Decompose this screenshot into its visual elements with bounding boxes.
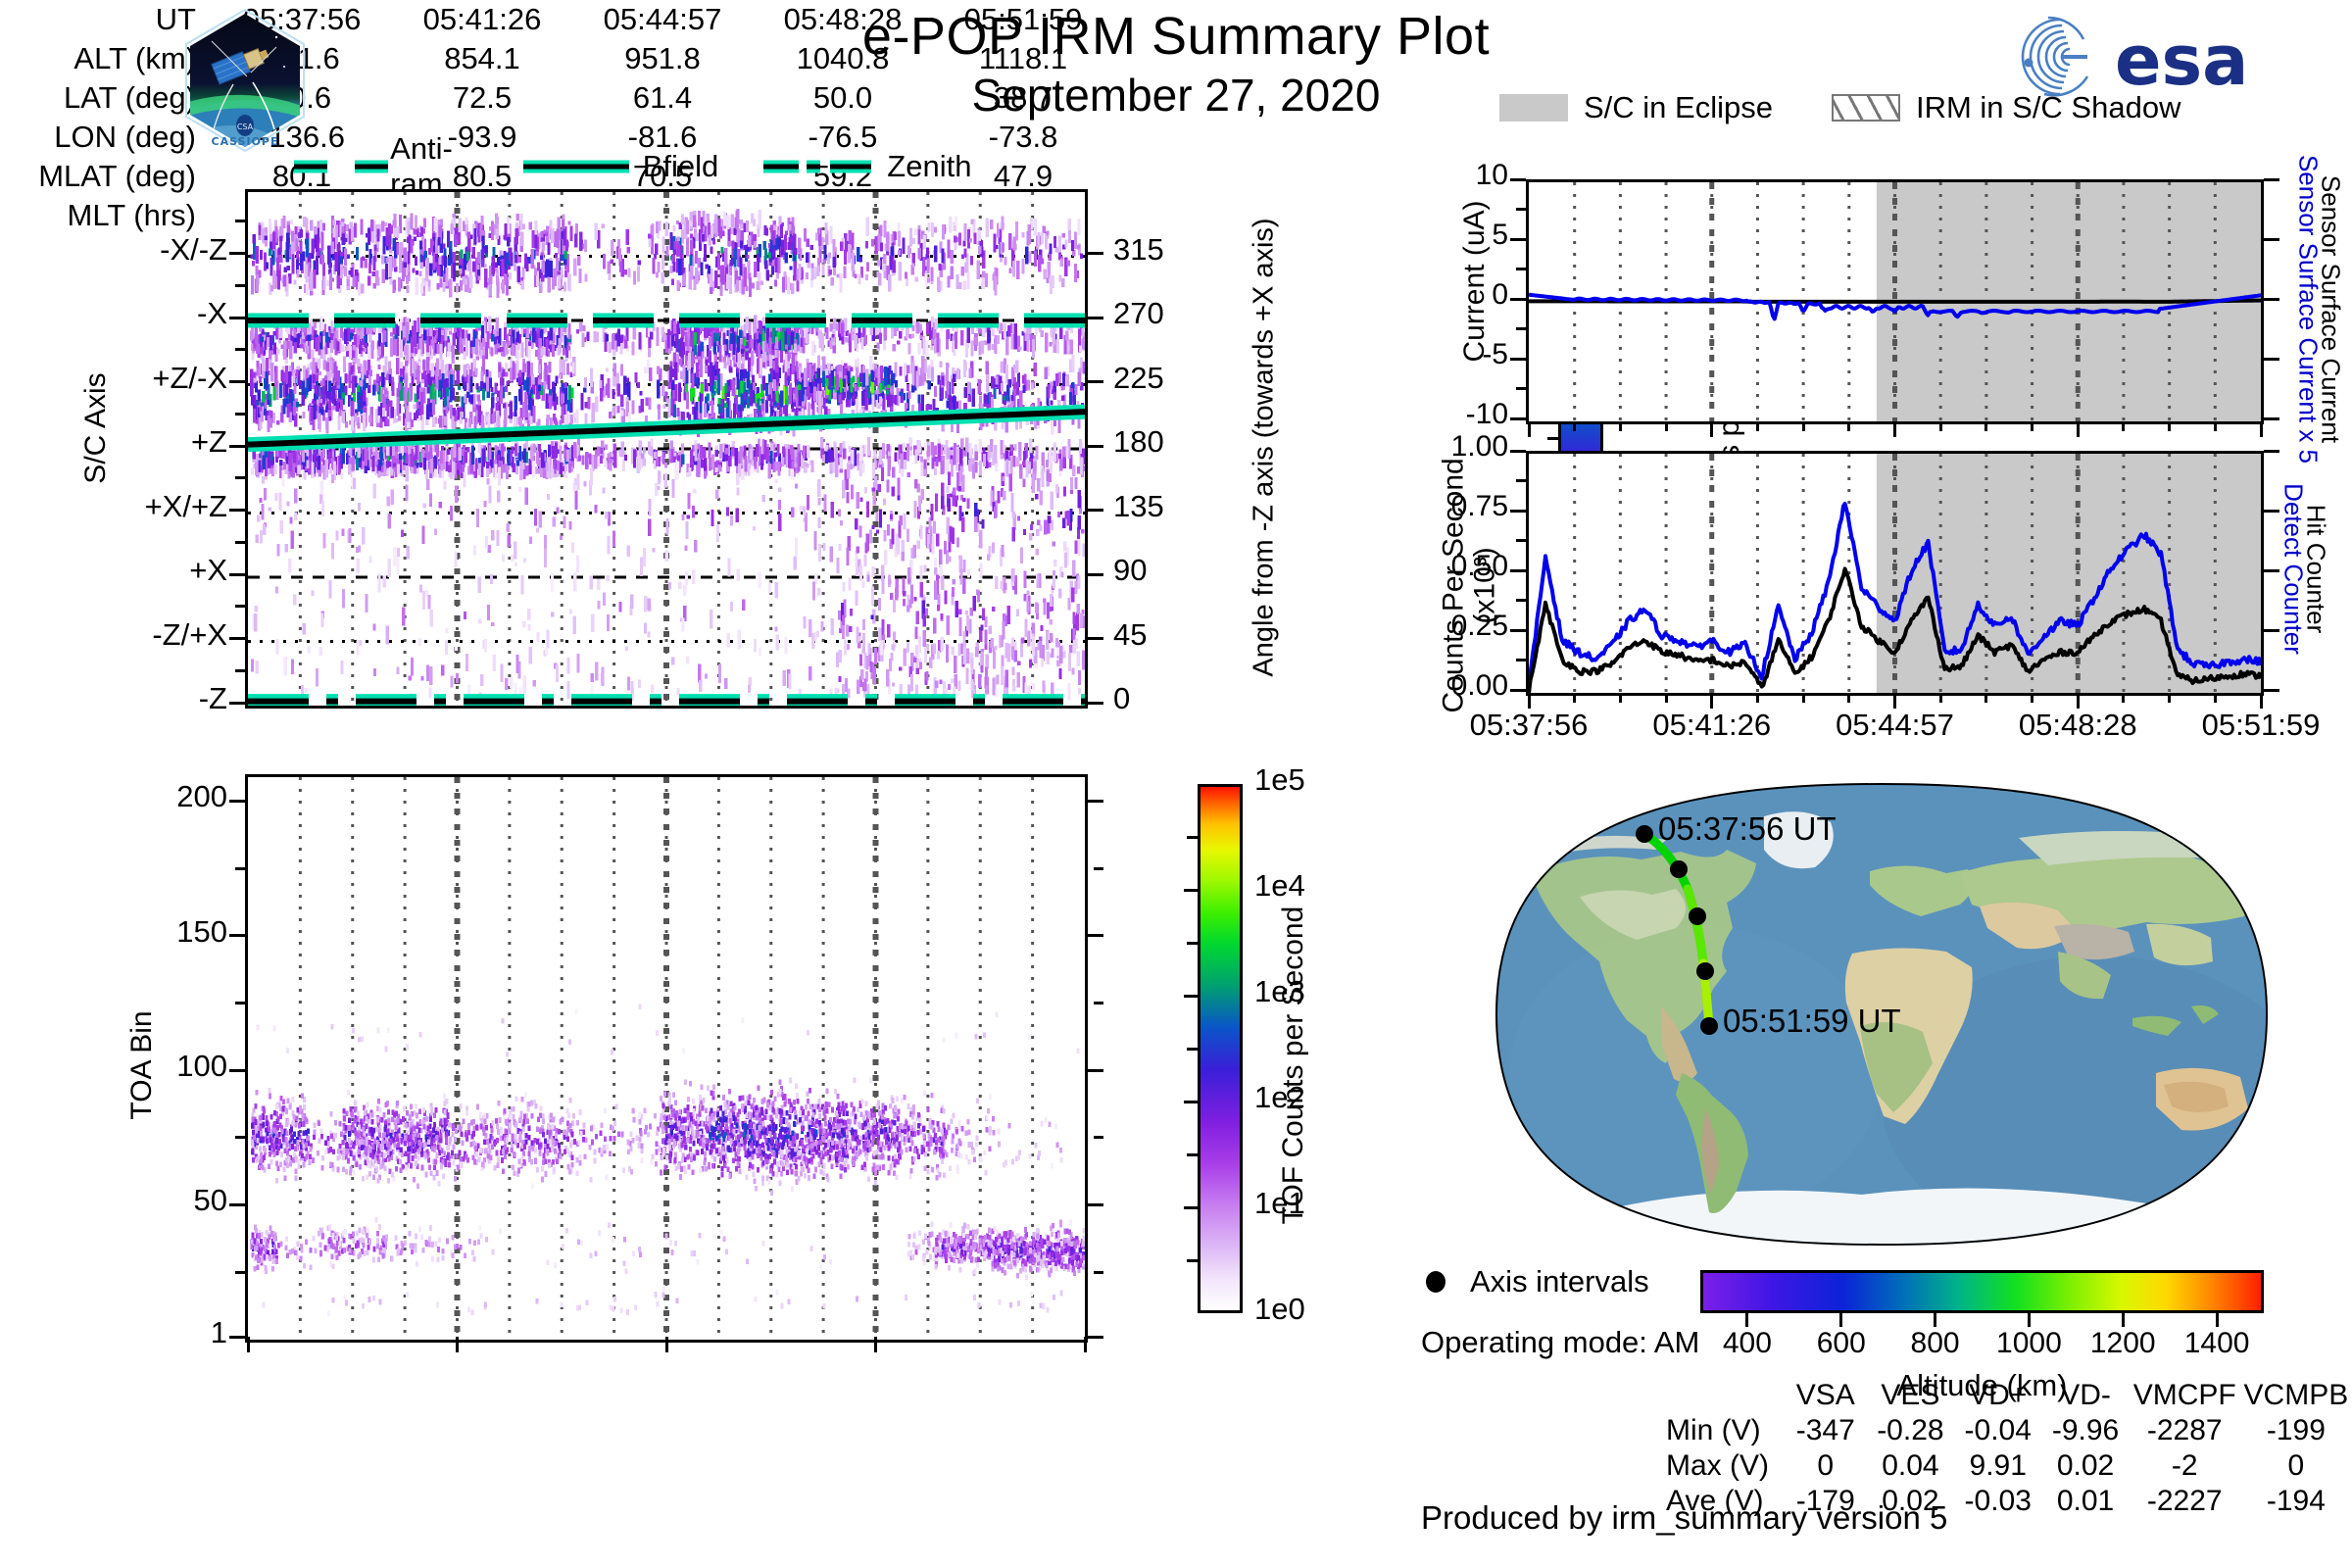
xtick: [247, 1337, 250, 1352]
stats-header-row: VSAVESVD+VD-VMCPFVCMPB: [1666, 1378, 2352, 1413]
xtick: [2260, 693, 2263, 709]
stats-cell: -2287: [2130, 1413, 2240, 1448]
xtick: [1528, 693, 1531, 709]
panel-current-right-label-black: Sensor Surface Current: [2316, 153, 2346, 466]
colorbar-tick-minor: [1187, 836, 1198, 839]
ytick-right: [1088, 380, 1103, 383]
ytick-label-right: 90: [1113, 553, 1231, 588]
ytick-left: [229, 1203, 245, 1206]
ephemeris-row-label: MLAT (deg): [0, 157, 212, 196]
xtick: [2031, 421, 2033, 431]
stats-column-header: VSA: [1785, 1378, 1867, 1413]
axis-intervals-marker-icon: [1426, 1271, 1445, 1293]
solid-line-swatch: [523, 158, 629, 175]
xtick: [456, 1337, 459, 1352]
ytick-label: 0.75: [1349, 490, 1508, 523]
ytick-left: [229, 1069, 245, 1072]
ytick: [1510, 178, 1526, 181]
stats-cell: -2: [2130, 1448, 2240, 1484]
ytick-label-left: -X: [0, 296, 227, 331]
svg-text:esa: esa: [2115, 21, 2248, 101]
shadow-hatch-swatch: [1832, 94, 1900, 122]
ytick-label: 150: [49, 914, 227, 950]
ytick-minor: [1094, 1136, 1103, 1139]
panel-counts[interactable]: [1526, 451, 2264, 696]
operating-mode-label: Operating mode: AM: [1421, 1325, 1699, 1360]
xtick: [1619, 421, 1622, 431]
xtick: [1939, 421, 1942, 431]
colorbar-tick: [1184, 1101, 1198, 1103]
ytick-minor: [1516, 268, 1526, 270]
altbar-tick: [2028, 1313, 2031, 1327]
ytick-label-right: 135: [1113, 489, 1231, 524]
ytick-minor: [1516, 327, 1526, 330]
ytick-right: [1088, 252, 1103, 255]
ytick-label: 0: [1349, 278, 1508, 312]
ytick-label-right: 315: [1113, 232, 1231, 268]
ytick-label-right: 270: [1113, 296, 1231, 331]
xtick: [2168, 693, 2171, 703]
ytick-left: [229, 380, 245, 383]
altbar-tick: [1745, 1313, 1748, 1327]
ytick-label-right: 45: [1113, 617, 1231, 653]
ytick-right: [1088, 1336, 1103, 1339]
ytick-minor: [235, 1271, 245, 1274]
ytick-minor: [235, 605, 245, 608]
stats-column-header: VMCPF: [2130, 1378, 2240, 1413]
dashed-line-swatch: [294, 158, 376, 175]
shading-legend: S/C in Eclipse IRM in S/C Shadow: [1499, 90, 2352, 125]
ytick-label: 0.00: [1349, 669, 1508, 703]
ytick-label-left: +X/+Z: [0, 489, 227, 524]
xtick: [1847, 421, 1850, 431]
colorbar-tick: [1184, 889, 1198, 892]
stats-column-header: VD-: [2041, 1378, 2129, 1413]
ytick-minor: [235, 1136, 245, 1139]
xtick: [1619, 693, 1622, 703]
track-point-start: [1636, 825, 1653, 843]
track-point: [1689, 907, 1706, 925]
stats-cell: -0.03: [1954, 1484, 2041, 1519]
xtick: [1802, 693, 1805, 703]
xtick: [1665, 693, 1668, 703]
stats-cell: -2227: [2130, 1484, 2240, 1519]
panel-angle-right-ylabel: Angle from -Z axis (towards +X axis): [1249, 193, 1281, 703]
legend-label-eclipse: S/C in Eclipse: [1584, 90, 1773, 125]
ytick-right: [1088, 800, 1103, 803]
colorbar-tof-title: TOF Counts per Second: [1277, 806, 1310, 1325]
legend-item-zenith: Zenith: [763, 149, 1016, 184]
altbar-tick: [2122, 1313, 2125, 1327]
xtick: [1893, 421, 1896, 437]
stats-cell: 0: [1785, 1448, 1867, 1484]
track-point: [1670, 860, 1688, 878]
ytick-minor: [235, 1002, 245, 1004]
stats-column-header: VES: [1867, 1378, 1954, 1413]
ytick-minor: [1094, 867, 1103, 870]
legend-item-bfield: Bfield: [523, 149, 764, 184]
ytick-label: 0.50: [1349, 550, 1508, 583]
legend-label-zenith: Zenith: [887, 149, 971, 184]
ytick-label-left: +Z: [0, 424, 227, 460]
ytick-right: [2264, 417, 2279, 420]
stats-row-label: Min (V): [1666, 1413, 1785, 1448]
ytick-right: [1088, 509, 1103, 512]
xtick: [1710, 421, 1713, 437]
colorbar-tof-counts: [1198, 784, 1243, 1313]
ytick-label-left: -Z: [0, 681, 227, 716]
ytick-label-right: 225: [1113, 361, 1231, 396]
xtick: [874, 1337, 877, 1352]
ephemeris-row-label: LON (deg): [0, 118, 212, 157]
ytick-right: [1088, 637, 1103, 640]
ytick-label: -5: [1349, 338, 1508, 371]
stats-cell: -0.28: [1867, 1413, 1954, 1448]
ytick-minor: [1516, 599, 1526, 602]
colorbar-tick-label: 1e5: [1254, 762, 1305, 798]
colorbar-tick-minor: [1187, 1048, 1198, 1051]
xtick: [2077, 693, 2080, 709]
ytick-right: [2264, 238, 2279, 241]
ytick-minor: [235, 284, 245, 287]
xtick: [1802, 421, 1805, 431]
ground-track-map[interactable]: 05:37:56 UT 05:51:59 UT: [1470, 779, 2293, 1249]
colorbar-altitude: [1700, 1270, 2264, 1313]
colorbar-tick-minor: [1187, 942, 1198, 945]
ytick-minor: [235, 220, 245, 222]
colorbar-tick: [1184, 995, 1198, 998]
stats-cell: -199: [2240, 1413, 2352, 1448]
ytick: [1510, 510, 1526, 513]
ytick: [1510, 450, 1526, 453]
ytick-left: [229, 1336, 245, 1339]
altbar-tick: [2216, 1313, 2219, 1327]
ytick-label: 100: [49, 1049, 227, 1084]
colorbar-tick-minor: [1547, 437, 1558, 440]
ytick-minor: [1516, 659, 1526, 661]
xtick: [2260, 421, 2263, 437]
ytick-right: [2264, 298, 2279, 301]
map-start-time-label: 05:37:56 UT: [1658, 810, 1837, 848]
ytick: [1510, 238, 1526, 241]
ytick-label-left: -Z/+X: [0, 617, 227, 653]
ytick-right: [1088, 317, 1103, 319]
ytick-left: [229, 637, 245, 640]
ytick-right: [1088, 702, 1103, 705]
ytick-label-left: +Z/-X: [0, 361, 227, 396]
cassiope-logo: CSA CASSIOPE: [182, 8, 308, 153]
ytick-right: [1088, 1203, 1103, 1206]
ytick-left: [229, 252, 245, 255]
ytick-right: [1088, 573, 1103, 576]
ytick-right: [2264, 178, 2279, 181]
ytick-minor: [1516, 208, 1526, 211]
ytick-left: [229, 800, 245, 803]
ytick-minor: [235, 413, 245, 416]
stats-cell: 0.04: [1867, 1448, 1954, 1484]
xtick: [2122, 693, 2125, 703]
track-point-end: [1700, 1017, 1718, 1035]
track-point: [1696, 962, 1714, 980]
ytick-label: 0.25: [1349, 610, 1508, 643]
stats-row: Max (V)00.049.910.02-20: [1666, 1448, 2352, 1484]
xtick: [2214, 421, 2217, 431]
stats-cell: 0.02: [2041, 1448, 2129, 1484]
stats-column-header: VD+: [1954, 1378, 2041, 1413]
xtick: [1084, 1337, 1087, 1352]
ytick: [1510, 689, 1526, 692]
xtick: [1984, 693, 1987, 703]
svg-text:CASSIOPE: CASSIOPE: [212, 135, 279, 148]
colorbar-tick-minor: [1187, 1259, 1198, 1262]
footer-produced-by: Produced by irm_summary version 5: [1421, 1499, 1947, 1537]
panel-current[interactable]: [1526, 179, 2264, 424]
ytick: [1510, 298, 1526, 301]
ytick-label-right: 0: [1113, 681, 1231, 716]
stats-column-header: VCMPB: [2240, 1378, 2352, 1413]
ytick-minor: [1094, 1271, 1103, 1274]
ytick-label: 5: [1349, 219, 1508, 252]
xtick: [2122, 421, 2125, 431]
ytick-left: [229, 317, 245, 319]
ytick-minor: [235, 348, 245, 351]
ytick-label-left: +X: [0, 553, 227, 588]
ytick-minor: [1516, 479, 1526, 482]
xtick: [665, 1337, 668, 1352]
orientation-legend: Anti-ram Bfield Zenith: [294, 147, 980, 186]
xtick: [2077, 421, 2080, 437]
ytick-left: [229, 573, 245, 576]
panel-toa-heatmap[interactable]: [245, 774, 1088, 1343]
colorbar-tick-minor: [1187, 1153, 1198, 1156]
ytick-right: [2264, 358, 2279, 361]
ytick-label-left: -X/-Z: [0, 232, 227, 268]
ytick-right: [1088, 1069, 1103, 1072]
ytick-left: [229, 702, 245, 705]
stats-cell: 9.91: [1954, 1448, 2041, 1484]
ytick-right: [1088, 934, 1103, 937]
ytick-minor: [235, 541, 245, 544]
xtick: [1847, 693, 1850, 703]
legend-label-bfield: Bfield: [643, 149, 719, 184]
altbar-tick: [1839, 1313, 1842, 1327]
xtick: [1984, 421, 1987, 431]
ytick-minor: [1516, 387, 1526, 390]
ytick: [1510, 629, 1526, 632]
xtick: [1710, 693, 1713, 709]
xtick: [1756, 693, 1759, 703]
stats-cell: -347: [1785, 1413, 1867, 1448]
panel-counts-right-label-black: Hit Counter: [2301, 442, 2331, 697]
xtick: [1893, 693, 1896, 709]
ytick-label-right: 180: [1113, 424, 1231, 460]
time-axis-label: 05:51:59: [2153, 708, 2352, 743]
ytick-label: 10: [1349, 159, 1508, 192]
ytick-left: [229, 445, 245, 448]
xtick: [1528, 421, 1531, 437]
ytick-label: 50: [49, 1183, 227, 1218]
ytick-minor: [1094, 1002, 1103, 1004]
altbar-tick: [1934, 1313, 1936, 1327]
colorbar-tick: [1184, 1206, 1198, 1209]
ytick-left: [229, 934, 245, 937]
xtick: [1756, 421, 1759, 431]
legend-label-shadow: IRM in S/C Shadow: [1916, 90, 2181, 125]
stats-cell: -0.04: [1954, 1413, 2041, 1448]
ytick-minor: [1516, 539, 1526, 542]
xtick: [1939, 693, 1942, 703]
eclipse-swatch: [1499, 94, 1568, 122]
panel-angle-heatmap[interactable]: [245, 189, 1088, 709]
ytick-left: [229, 509, 245, 512]
stats-cell: -194: [2240, 1484, 2352, 1519]
ytick-minor: [235, 867, 245, 870]
map-end-time-label: 05:51:59 UT: [1723, 1003, 1901, 1040]
svg-text:CSA: CSA: [237, 122, 254, 131]
stats-corner: [1666, 1378, 1785, 1413]
ytick-label: 200: [49, 779, 227, 814]
xtick: [1573, 693, 1576, 703]
voltage-stats-table: VSAVESVD+VD-VMCPFVCMPBMin (V)-347-0.28-0…: [1666, 1378, 2352, 1519]
ephemeris-row-label: MLT (hrs): [0, 196, 212, 235]
stats-row-label: Max (V): [1666, 1448, 1785, 1484]
stats-cell: 0.01: [2041, 1484, 2129, 1519]
axis-intervals-label: Axis intervals: [1470, 1264, 1649, 1299]
ytick-minor: [235, 669, 245, 672]
dashdot-line-swatch: [763, 158, 873, 175]
stats-cell: -9.96: [2041, 1413, 2129, 1448]
ytick-label: 1: [49, 1315, 227, 1350]
ytick: [1510, 417, 1526, 420]
ytick-minor: [235, 476, 245, 479]
ytick-label: 1.00: [1349, 430, 1508, 464]
ytick: [1510, 358, 1526, 361]
ytick-right: [1088, 445, 1103, 448]
stats-row: Min (V)-347-0.28-0.04-9.96-2287-199: [1666, 1413, 2352, 1448]
xtick: [2031, 693, 2033, 703]
xtick: [2214, 693, 2217, 703]
xtick: [1665, 421, 1668, 431]
ytick: [1510, 569, 1526, 572]
xtick: [1573, 421, 1576, 431]
stats-cell: 0: [2240, 1448, 2352, 1484]
xtick: [2168, 421, 2171, 431]
altbar-tick-label: 1400: [2158, 1327, 2276, 1360]
